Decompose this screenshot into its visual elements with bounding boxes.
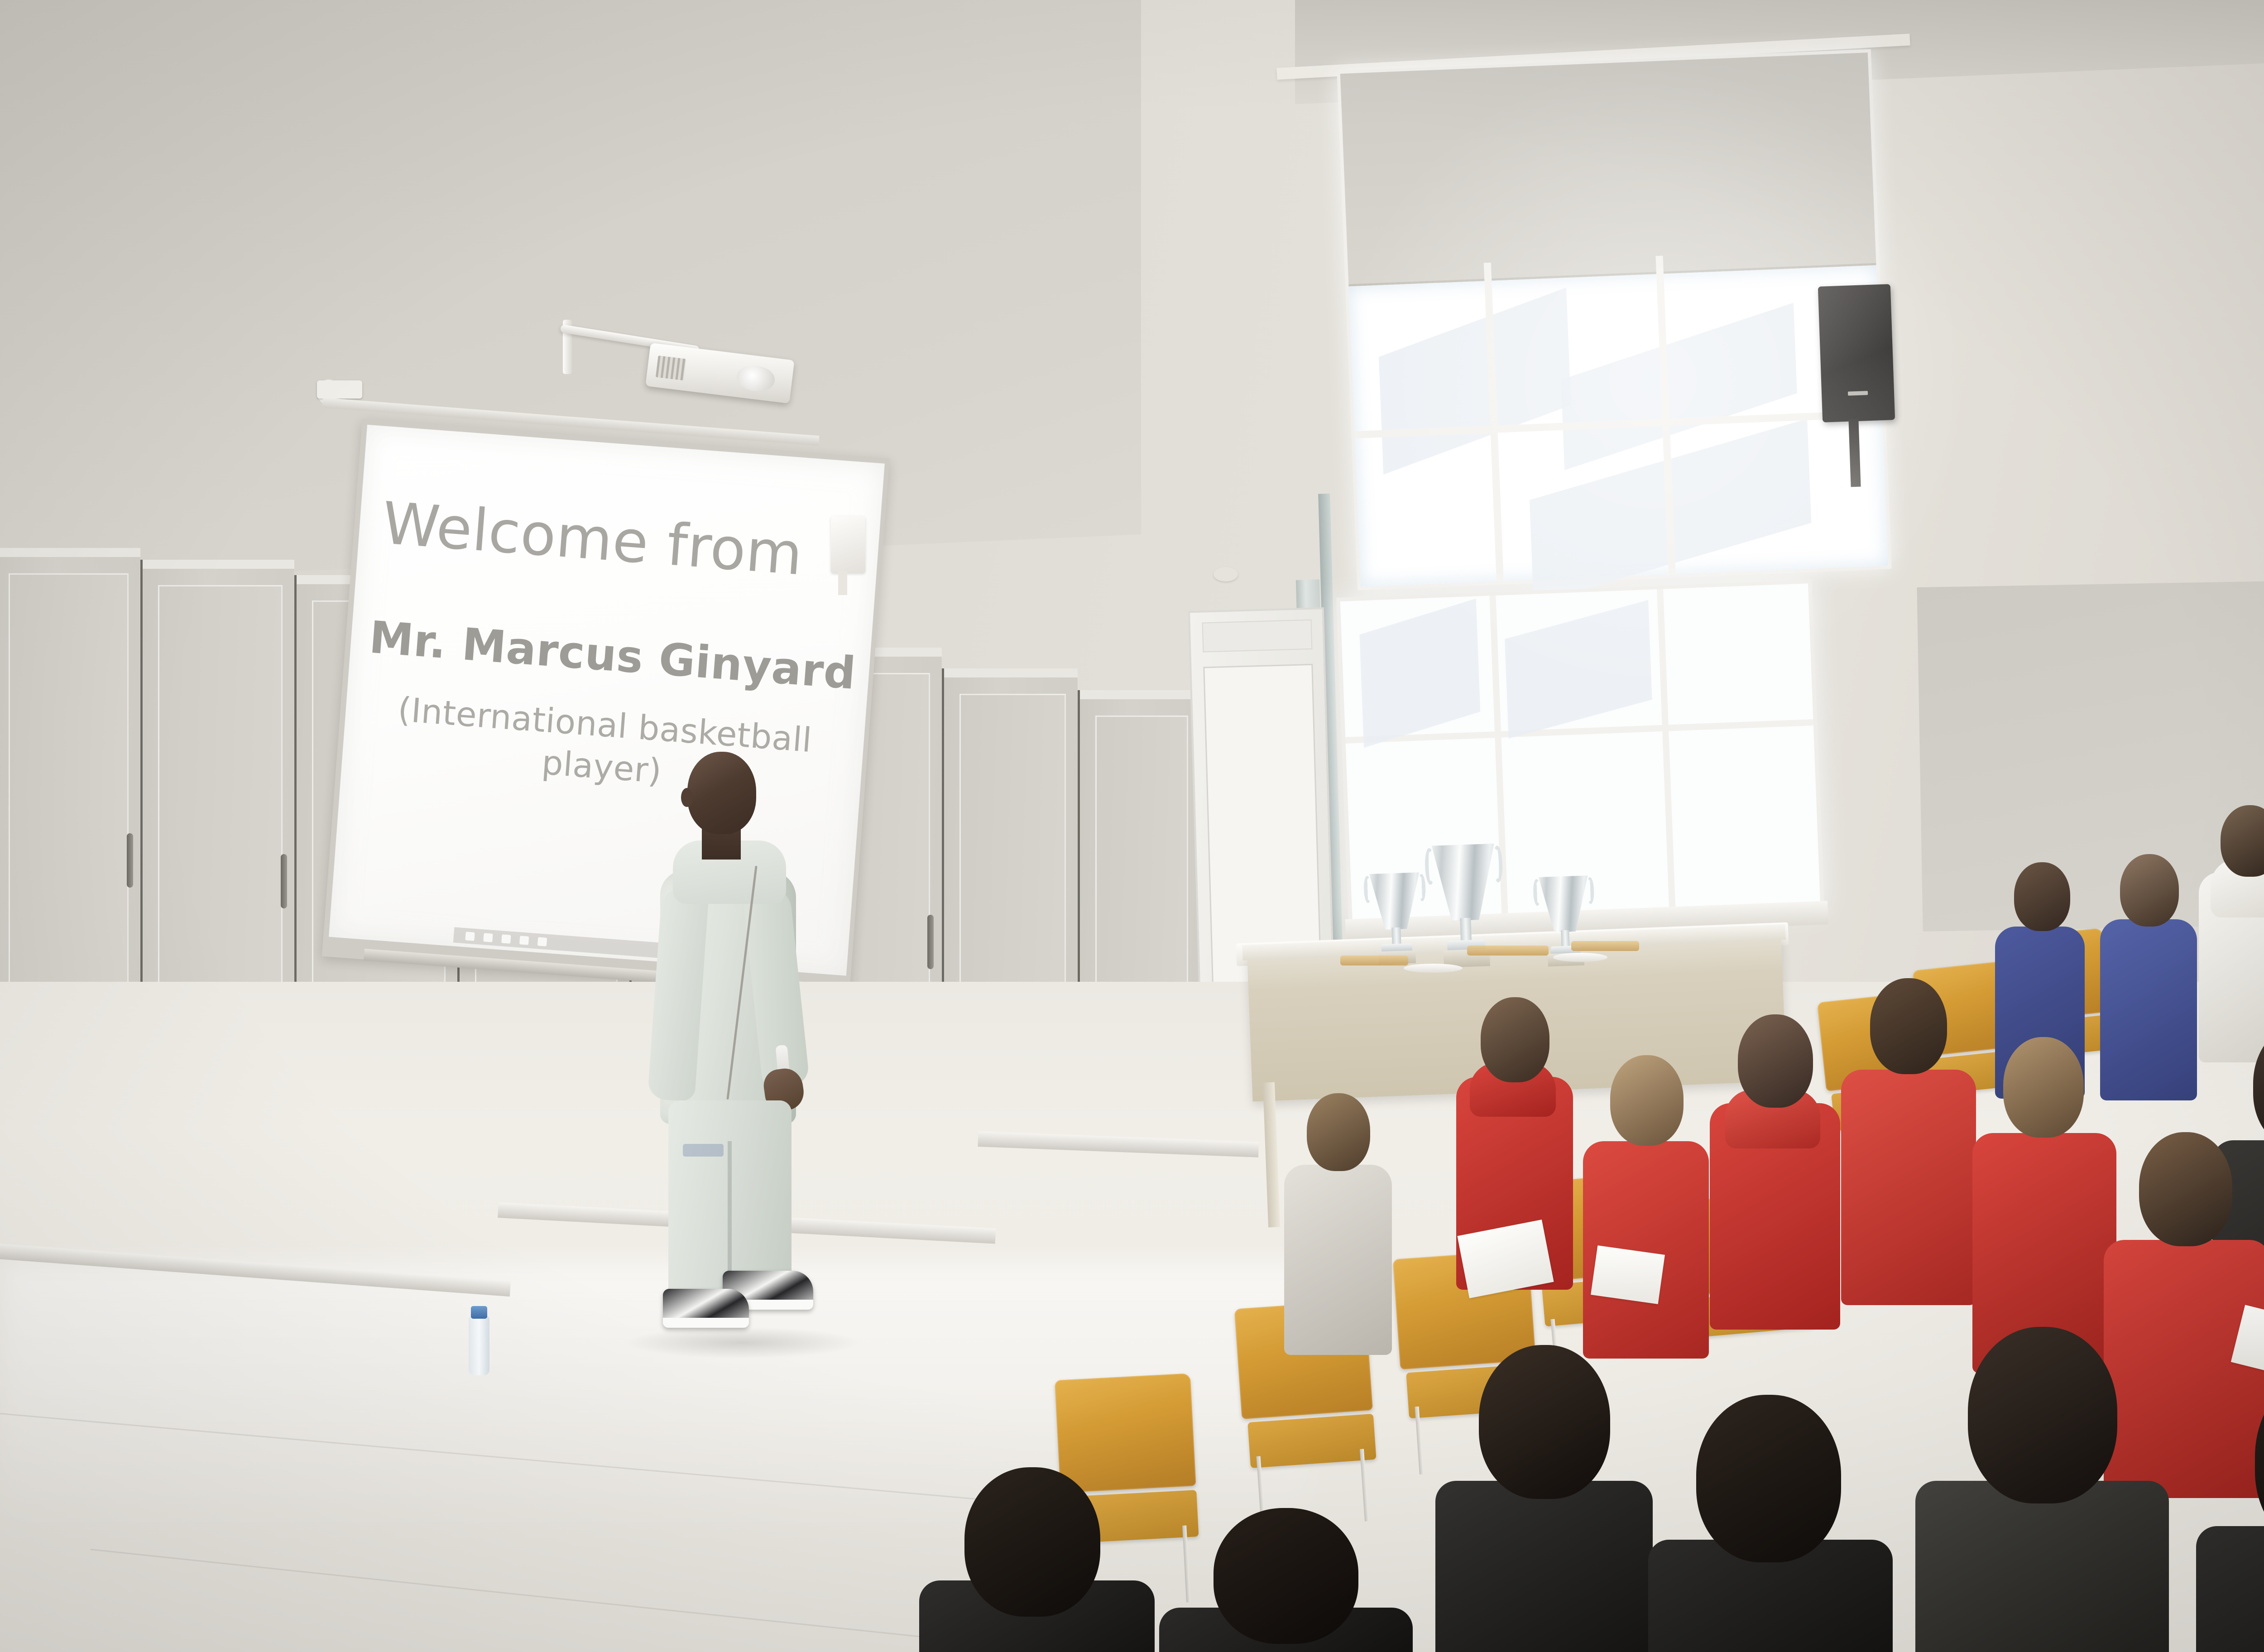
water-bottle-cap (471, 1306, 487, 1319)
audience-member-5 (1838, 978, 1979, 1295)
trophy-bowl (1367, 872, 1423, 930)
slide-heading: Welcome from (380, 493, 863, 591)
audience-member-12 (1435, 1345, 1653, 1652)
panel-handle[interactable] (127, 833, 133, 888)
panel-handle[interactable] (281, 854, 287, 908)
audience-member-1 (1281, 1091, 1395, 1345)
snack-tray (1467, 946, 1549, 956)
audience-member-3 (1580, 1055, 1712, 1349)
trophy-stem (1392, 927, 1401, 946)
trophy-cup (1367, 872, 1425, 965)
person-head (1479, 1345, 1610, 1499)
ceiling-sensor-icon (1214, 567, 1238, 581)
panel-frame-top (0, 548, 140, 557)
person-body (1435, 1481, 1653, 1652)
slide-name: Mr. Marcus Ginyard (368, 614, 854, 699)
panel-frame-top (143, 560, 294, 569)
audience-member-14 (1915, 1327, 2169, 1652)
person-body (1284, 1165, 1392, 1355)
presenter-ear (681, 788, 693, 807)
person-body (1915, 1481, 2169, 1652)
slideshow-options-icon[interactable] (537, 937, 547, 946)
wall-sensor (831, 516, 865, 573)
trophy-stem (1460, 918, 1472, 943)
person-body (2196, 1526, 2264, 1652)
slideshow-pointer-icon[interactable] (483, 933, 493, 942)
audience-member-16 (919, 1467, 1155, 1652)
person-head (1307, 1093, 1370, 1171)
person-head (2014, 862, 2070, 931)
handout-paper (1591, 1245, 1665, 1304)
person-head (1214, 1508, 1358, 1644)
audience-member-15 (2196, 1368, 2264, 1652)
door-transom (1202, 619, 1313, 653)
person-head (2221, 805, 2264, 877)
person-head (1610, 1055, 1684, 1146)
roller-blind[interactable] (1340, 53, 1876, 286)
snack-tray (1571, 941, 1639, 951)
person-head (964, 1467, 1100, 1617)
presenter (634, 752, 824, 1336)
audience-member-8 (2196, 802, 2264, 1055)
serving-plate (1404, 964, 1463, 973)
shoe-sole (663, 1318, 749, 1328)
window-reflection (1360, 599, 1481, 748)
panel-frame-top (944, 668, 1078, 677)
person-head (2253, 1023, 2264, 1148)
audience-member-6 (1970, 1037, 2119, 1363)
chair-seat (1247, 1414, 1377, 1468)
wall-speaker (1818, 284, 1895, 422)
tracksuit-logo (683, 1144, 724, 1157)
person-head (2255, 1368, 2264, 1553)
snack-tray (1340, 956, 1408, 965)
person-head (1481, 997, 1549, 1082)
panel-frame-top (1080, 690, 1200, 699)
person-head (1968, 1327, 2117, 1503)
trophy-bowl (1429, 844, 1500, 922)
panel-handle[interactable] (927, 915, 934, 969)
person-head (1738, 1014, 1813, 1108)
person-head (1870, 978, 1947, 1074)
presenter-shoe-left (663, 1289, 749, 1328)
serving-plate (1553, 953, 1607, 962)
projector-vent-icon (656, 355, 686, 380)
water-bottle (469, 1316, 489, 1375)
trophy-stem (1561, 930, 1570, 948)
person-head (1696, 1395, 1841, 1562)
person-head (2139, 1132, 2232, 1246)
person-head (2003, 1037, 2084, 1138)
slideshow-menu-icon[interactable] (501, 934, 511, 943)
presenter-head (687, 752, 756, 834)
audience-member-17 (1159, 1508, 1413, 1652)
slideshow-previous-icon[interactable] (465, 932, 475, 941)
audience-member-4 (1707, 1014, 1843, 1322)
screen-housing (317, 380, 362, 399)
trophy-bowl (1536, 875, 1592, 933)
assembly-hall-photo: Welcome from Mr. Marcus Ginyard (Interna… (0, 0, 2264, 1652)
audience-member-13 (1648, 1395, 1893, 1652)
window-mullion (1657, 589, 1675, 912)
person-head (2120, 854, 2179, 927)
slideshow-next-icon[interactable] (519, 936, 529, 945)
window-reflection (1505, 600, 1652, 739)
projector-lens-icon (735, 364, 776, 394)
clerestory-window (1337, 49, 1891, 590)
presenter-legs (668, 1100, 791, 1300)
person-body (1841, 1070, 1976, 1305)
